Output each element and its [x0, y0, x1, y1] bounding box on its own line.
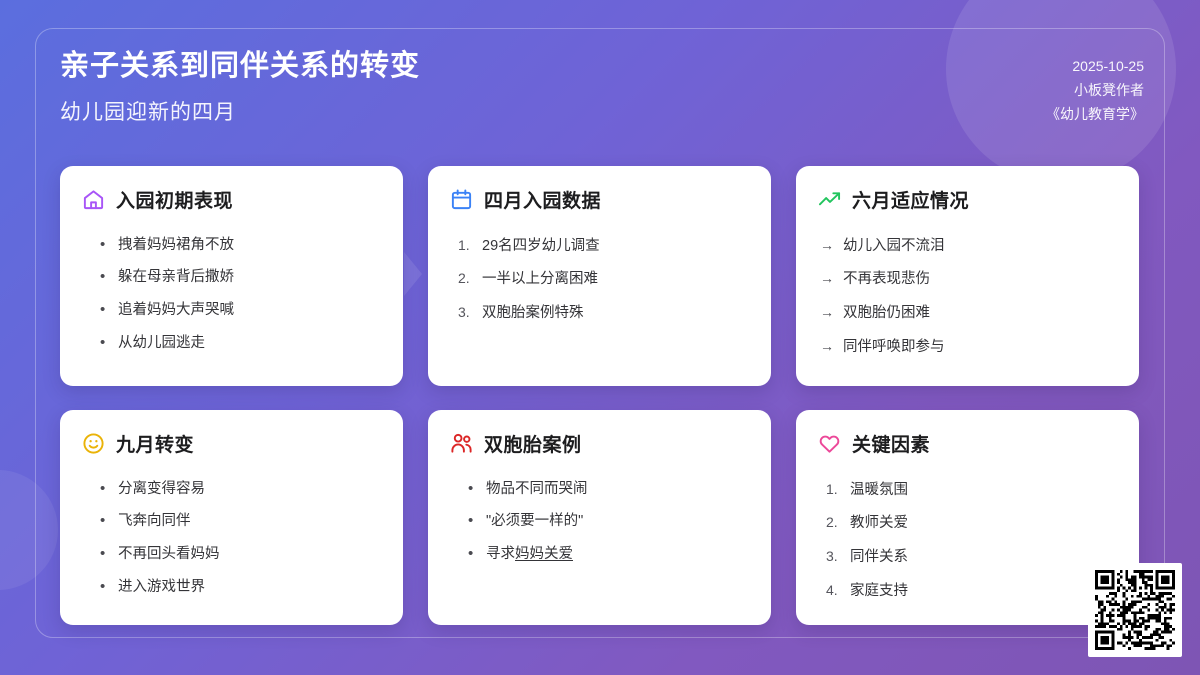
list-item-marker: 3.: [826, 546, 841, 567]
list-item: •从幼儿园逃走: [100, 327, 381, 360]
list-item-text: 双胞胎仍困难: [843, 303, 930, 325]
card-title: 关键因素: [852, 430, 930, 457]
list-item: 2.一半以上分离困难: [458, 263, 749, 297]
list-item-marker: •: [100, 481, 109, 496]
list-item-marker: →: [820, 302, 834, 323]
list-item-text: 家庭支持: [850, 581, 908, 603]
list-item: 1.29名四岁幼儿调查: [458, 229, 749, 263]
card-item-list: 1.29名四岁幼儿调查2.一半以上分离困难3.双胞胎案例特殊: [450, 229, 749, 330]
list-item-marker: •: [468, 546, 477, 561]
list-item-text: 教师关爱: [850, 513, 908, 535]
list-item-marker: 4.: [826, 580, 841, 601]
card-item-list: •拽着妈妈裙角不放•躲在母亲背后撒娇•追着妈妈大声哭喊•从幼儿园逃走: [82, 229, 381, 360]
list-item: →不再表现悲伤: [820, 263, 1117, 297]
meta-date: 2025-10-25: [1046, 54, 1144, 78]
list-item-text: 躲在母亲背后撒娇: [118, 267, 234, 289]
list-item: 4.家庭支持: [826, 574, 1117, 608]
list-item: •不再回头看妈妈: [100, 539, 381, 572]
card-shuang-bao-tai-an-li: 双胞胎案例•物品不同而哭闹•"必须要一样的"•寻求妈妈关爱: [428, 410, 771, 625]
calendar-icon: [450, 188, 473, 211]
list-item-text: 追着妈妈大声哭喊: [118, 300, 234, 322]
list-item-marker: 2.: [458, 268, 473, 289]
card-ru-yuan-chu-qi-biao-xian: 入园初期表现•拽着妈妈裙角不放•躲在母亲背后撒娇•追着妈妈大声哭喊•从幼儿园逃走: [60, 166, 403, 386]
meta-author: 小板凳作者: [1046, 78, 1144, 102]
qr-code-image: [1095, 570, 1175, 650]
card-title: 九月转变: [116, 430, 194, 457]
list-item-marker: •: [100, 579, 109, 594]
list-item-marker: •: [100, 513, 109, 528]
card-header: 九月转变: [82, 430, 381, 457]
list-item-text: 双胞胎案例特殊: [482, 303, 584, 325]
list-item-marker: •: [468, 513, 477, 528]
card-header: 双胞胎案例: [450, 430, 749, 457]
list-item: 2.教师关爱: [826, 507, 1117, 541]
card-title: 四月入园数据: [484, 186, 601, 213]
list-item: •追着妈妈大声哭喊: [100, 295, 381, 328]
card-header: 六月适应情况: [818, 186, 1117, 213]
list-item: •飞奔向同伴: [100, 506, 381, 539]
list-item-text: 温暖氛围: [850, 480, 908, 502]
list-item: •物品不同而哭闹: [468, 473, 749, 506]
list-item-text: 飞奔向同伴: [118, 511, 191, 533]
users-icon: [450, 432, 473, 455]
card-item-list: →幼儿入园不流泪→不再表现悲伤→双胞胎仍困难→同伴呼唤即参与: [818, 229, 1117, 364]
card-item-list: 1.温暖氛围2.教师关爱3.同伴关系4.家庭支持: [818, 473, 1117, 608]
list-item: •"必须要一样的": [468, 506, 749, 539]
list-item-marker: 2.: [826, 512, 841, 533]
list-item-text: 同伴关系: [850, 547, 908, 569]
list-item-marker: •: [468, 481, 477, 496]
card-title: 双胞胎案例: [484, 430, 582, 457]
list-item: 3.双胞胎案例特殊: [458, 297, 749, 331]
card-header: 四月入园数据: [450, 186, 749, 213]
list-item: →同伴呼唤即参与: [820, 330, 1117, 364]
list-item-text: 不再表现悲伤: [843, 269, 930, 291]
card-header: 入园初期表现: [82, 186, 381, 213]
card-liu-yue-shi-ying-qing-kuang: 六月适应情况→幼儿入园不流泪→不再表现悲伤→双胞胎仍困难→同伴呼唤即参与: [796, 166, 1139, 386]
list-item-text: 不再回头看妈妈: [118, 544, 220, 566]
trending-up-icon: [818, 188, 841, 211]
list-item-text: 物品不同而哭闹: [486, 479, 588, 501]
list-item: •寻求妈妈关爱: [468, 539, 749, 572]
card-header: 关键因素: [818, 430, 1117, 457]
qr-code[interactable]: [1088, 563, 1182, 657]
card-jiu-yue-zhuan-bian: 九月转变•分离变得容易•飞奔向同伴•不再回头看妈妈•进入游戏世界: [60, 410, 403, 625]
list-item-text: "必须要一样的": [486, 511, 583, 533]
list-item-text: 从幼儿园逃走: [118, 333, 205, 355]
list-item: •拽着妈妈裙角不放: [100, 229, 381, 262]
home-icon: [82, 188, 105, 211]
list-item-marker: →: [820, 336, 834, 357]
list-item-marker: 1.: [458, 235, 473, 256]
page-title: 亲子关系到同伴关系的转变: [60, 48, 420, 86]
card-title: 六月适应情况: [852, 186, 969, 213]
list-item: 1.温暖氛围: [826, 473, 1117, 507]
list-item-text: 寻求妈妈关爱: [486, 544, 573, 566]
decorative-circle-left: [0, 470, 58, 590]
list-item-text: 幼儿入园不流泪: [843, 236, 945, 258]
card-grid: 入园初期表现•拽着妈妈裙角不放•躲在母亲背后撒娇•追着妈妈大声哭喊•从幼儿园逃走…: [60, 166, 1145, 625]
list-item-marker: •: [100, 546, 109, 561]
card-title: 入园初期表现: [116, 186, 233, 213]
heart-icon: [818, 432, 841, 455]
card-item-list: •物品不同而哭闹•"必须要一样的"•寻求妈妈关爱: [450, 473, 749, 571]
list-item: →幼儿入园不流泪: [820, 229, 1117, 263]
list-item-text: 拽着妈妈裙角不放: [118, 235, 234, 257]
list-item-marker: •: [100, 335, 109, 350]
list-item-text: 29名四岁幼儿调查: [482, 236, 600, 258]
card-item-list: •分离变得容易•飞奔向同伴•不再回头看妈妈•进入游戏世界: [82, 473, 381, 604]
page-subtitle: 幼儿园迎新的四月: [60, 96, 420, 126]
list-item: •进入游戏世界: [100, 571, 381, 604]
list-item-text: 同伴呼唤即参与: [843, 337, 945, 359]
list-item-marker: →: [820, 235, 834, 256]
list-item-text: 一半以上分离困难: [482, 269, 598, 291]
list-item-text: 分离变得容易: [118, 479, 205, 501]
list-item-marker: •: [100, 302, 109, 317]
list-item-marker: •: [100, 269, 109, 284]
meta-source: 《幼儿教育学》: [1046, 102, 1144, 126]
list-item-marker: →: [820, 268, 834, 289]
card-si-yue-ru-yuan-shu-ju: 四月入园数据1.29名四岁幼儿调查2.一半以上分离困难3.双胞胎案例特殊: [428, 166, 771, 386]
list-item-marker: 3.: [458, 302, 473, 323]
list-item-marker: •: [100, 237, 109, 252]
list-item: 3.同伴关系: [826, 541, 1117, 575]
list-item: •分离变得容易: [100, 473, 381, 506]
slide-header: 亲子关系到同伴关系的转变 幼儿园迎新的四月 2025-10-25 小板凳作者 《…: [60, 48, 1144, 126]
list-item: •躲在母亲背后撒娇: [100, 262, 381, 295]
title-block: 亲子关系到同伴关系的转变 幼儿园迎新的四月: [60, 48, 420, 126]
list-item: →双胞胎仍困难: [820, 297, 1117, 331]
list-item-marker: 1.: [826, 479, 841, 500]
list-item-text: 进入游戏世界: [118, 577, 205, 599]
smile-icon: [82, 432, 105, 455]
meta-block: 2025-10-25 小板凳作者 《幼儿教育学》: [1046, 48, 1144, 126]
